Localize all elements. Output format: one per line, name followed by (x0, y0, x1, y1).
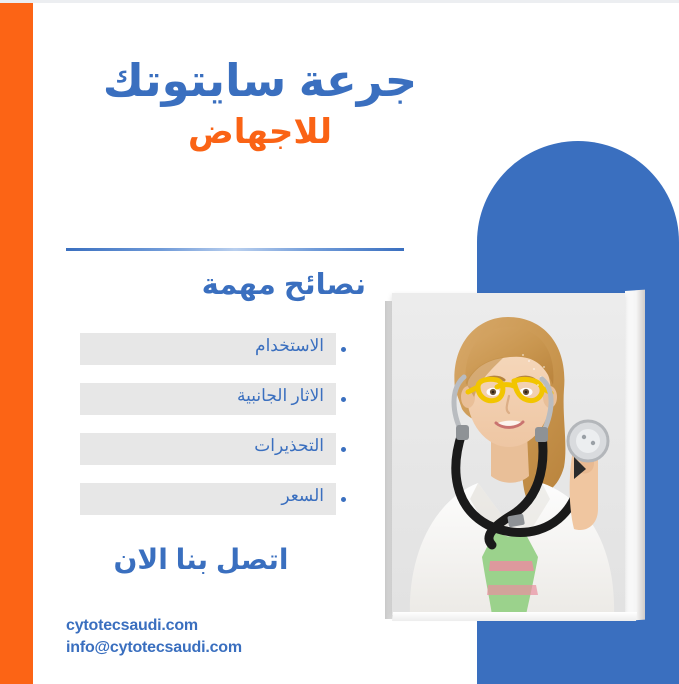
promo-poster: جرعة سايتوتك للاجهاض نصائح مهمة الاستخدا… (0, 0, 679, 684)
headline-secondary: للاجهاض (60, 112, 460, 153)
list-item[interactable]: الاستخدام (66, 333, 346, 365)
list-item[interactable]: السعر (66, 483, 346, 515)
tips-list: الاستخدام الاثار الجانبية التحذيرات السع… (66, 333, 346, 533)
photo-card (385, 291, 645, 621)
headline-primary: جرعة سايتوتك (60, 55, 460, 106)
list-item-label: التحذيرات (254, 436, 324, 456)
website-link[interactable]: cytotecsaudi.com (66, 615, 242, 637)
doctor-photo-illustration (392, 293, 625, 615)
email-link[interactable]: info@cytotecsaudi.com (66, 637, 242, 659)
divider-line (66, 248, 404, 251)
contact-block: cytotecsaudi.com info@cytotecsaudi.com (66, 615, 242, 659)
list-item[interactable]: التحذيرات (66, 433, 346, 465)
list-item-label: السعر (281, 486, 324, 506)
orange-side-bar (0, 3, 33, 684)
bullet-icon (341, 347, 346, 352)
bullet-icon (341, 397, 346, 402)
section-heading: نصائح مهمة (202, 267, 366, 302)
list-item-label: الاثار الجانبية (237, 386, 324, 406)
card-right-spine (625, 290, 645, 621)
bullet-icon (341, 447, 346, 452)
bullet-icon (341, 497, 346, 502)
list-item[interactable]: الاثار الجانبية (66, 383, 346, 415)
list-item-label: الاستخدام (255, 336, 324, 356)
call-to-action-text: اتصل بنا الان (66, 543, 336, 576)
card-bottom-edge (392, 612, 637, 621)
headline-block: جرعة سايتوتك للاجهاض (60, 55, 460, 153)
doctor-photo (392, 293, 625, 615)
